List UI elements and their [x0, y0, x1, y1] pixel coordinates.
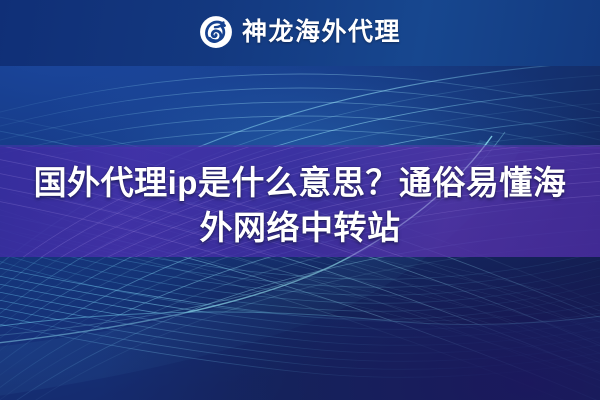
swirl-dragon-logo-icon [199, 15, 233, 49]
title-line-2: 外网络中转站 [18, 205, 582, 250]
title-line-1: 国外代理ip是什么意思？通俗易懂海 [18, 160, 582, 205]
banner-canvas: 神龙海外代理 国外代理ip是什么意思？通俗易懂海 [0, 0, 600, 400]
page-title: 国外代理ip是什么意思？通俗易懂海 外网络中转站 [18, 160, 582, 250]
brand-name: 神龙海外代理 [242, 20, 401, 45]
brand-logo[interactable]: 神龙海外代理 [0, 13, 600, 51]
